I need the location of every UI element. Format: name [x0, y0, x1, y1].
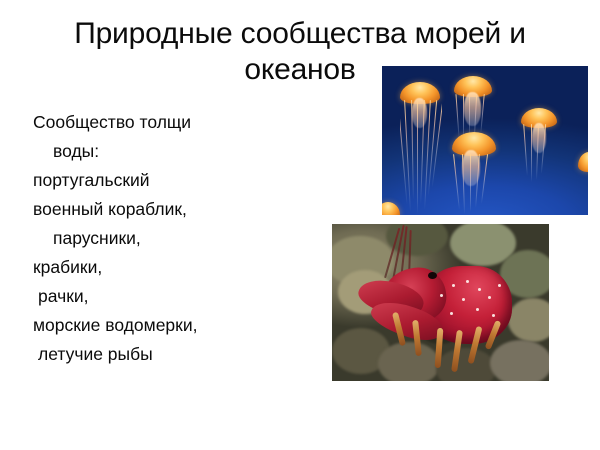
body-line: рачки, [33, 282, 305, 311]
lobster-spot [462, 298, 465, 301]
lobster-spot [476, 308, 479, 311]
rock [508, 298, 549, 342]
jellyfish-tentacles [400, 100, 442, 215]
body-line: крабики, [33, 253, 305, 282]
lobster-spot [492, 314, 495, 317]
jellyfish-tentacles [521, 124, 559, 186]
body-line: парусники, [33, 224, 305, 253]
body-line: военный кораблик, [33, 195, 305, 224]
presentation-slide: Природные сообщества морей и океанов Соо… [0, 0, 600, 450]
body-line: Сообщество толщи [33, 108, 305, 137]
lobster-spot [466, 280, 469, 283]
lobster-photo [332, 224, 549, 381]
body-line: португальский [33, 166, 305, 195]
lobster-spot [488, 296, 491, 299]
body-line: летучие рыбы [33, 340, 305, 369]
lobster-spot [452, 284, 455, 287]
lobster-eye [428, 272, 437, 279]
slide-body-text: Сообщество толщи воды: португальский вое… [33, 108, 305, 369]
lobster-spot [440, 294, 443, 297]
rock [490, 340, 549, 381]
jellyfish-photo [382, 66, 588, 215]
body-line: морские водомерки, [33, 311, 305, 340]
lobster-spot [450, 312, 453, 315]
jellyfish-tentacles [452, 154, 498, 215]
lobster-spot [498, 284, 501, 287]
lobster-spot [478, 288, 481, 291]
rock [436, 348, 496, 381]
rock [378, 342, 440, 381]
body-line: воды: [33, 137, 305, 166]
jellyfish-bell-partial [382, 202, 400, 215]
jellyfish-bell-partial [578, 152, 588, 172]
